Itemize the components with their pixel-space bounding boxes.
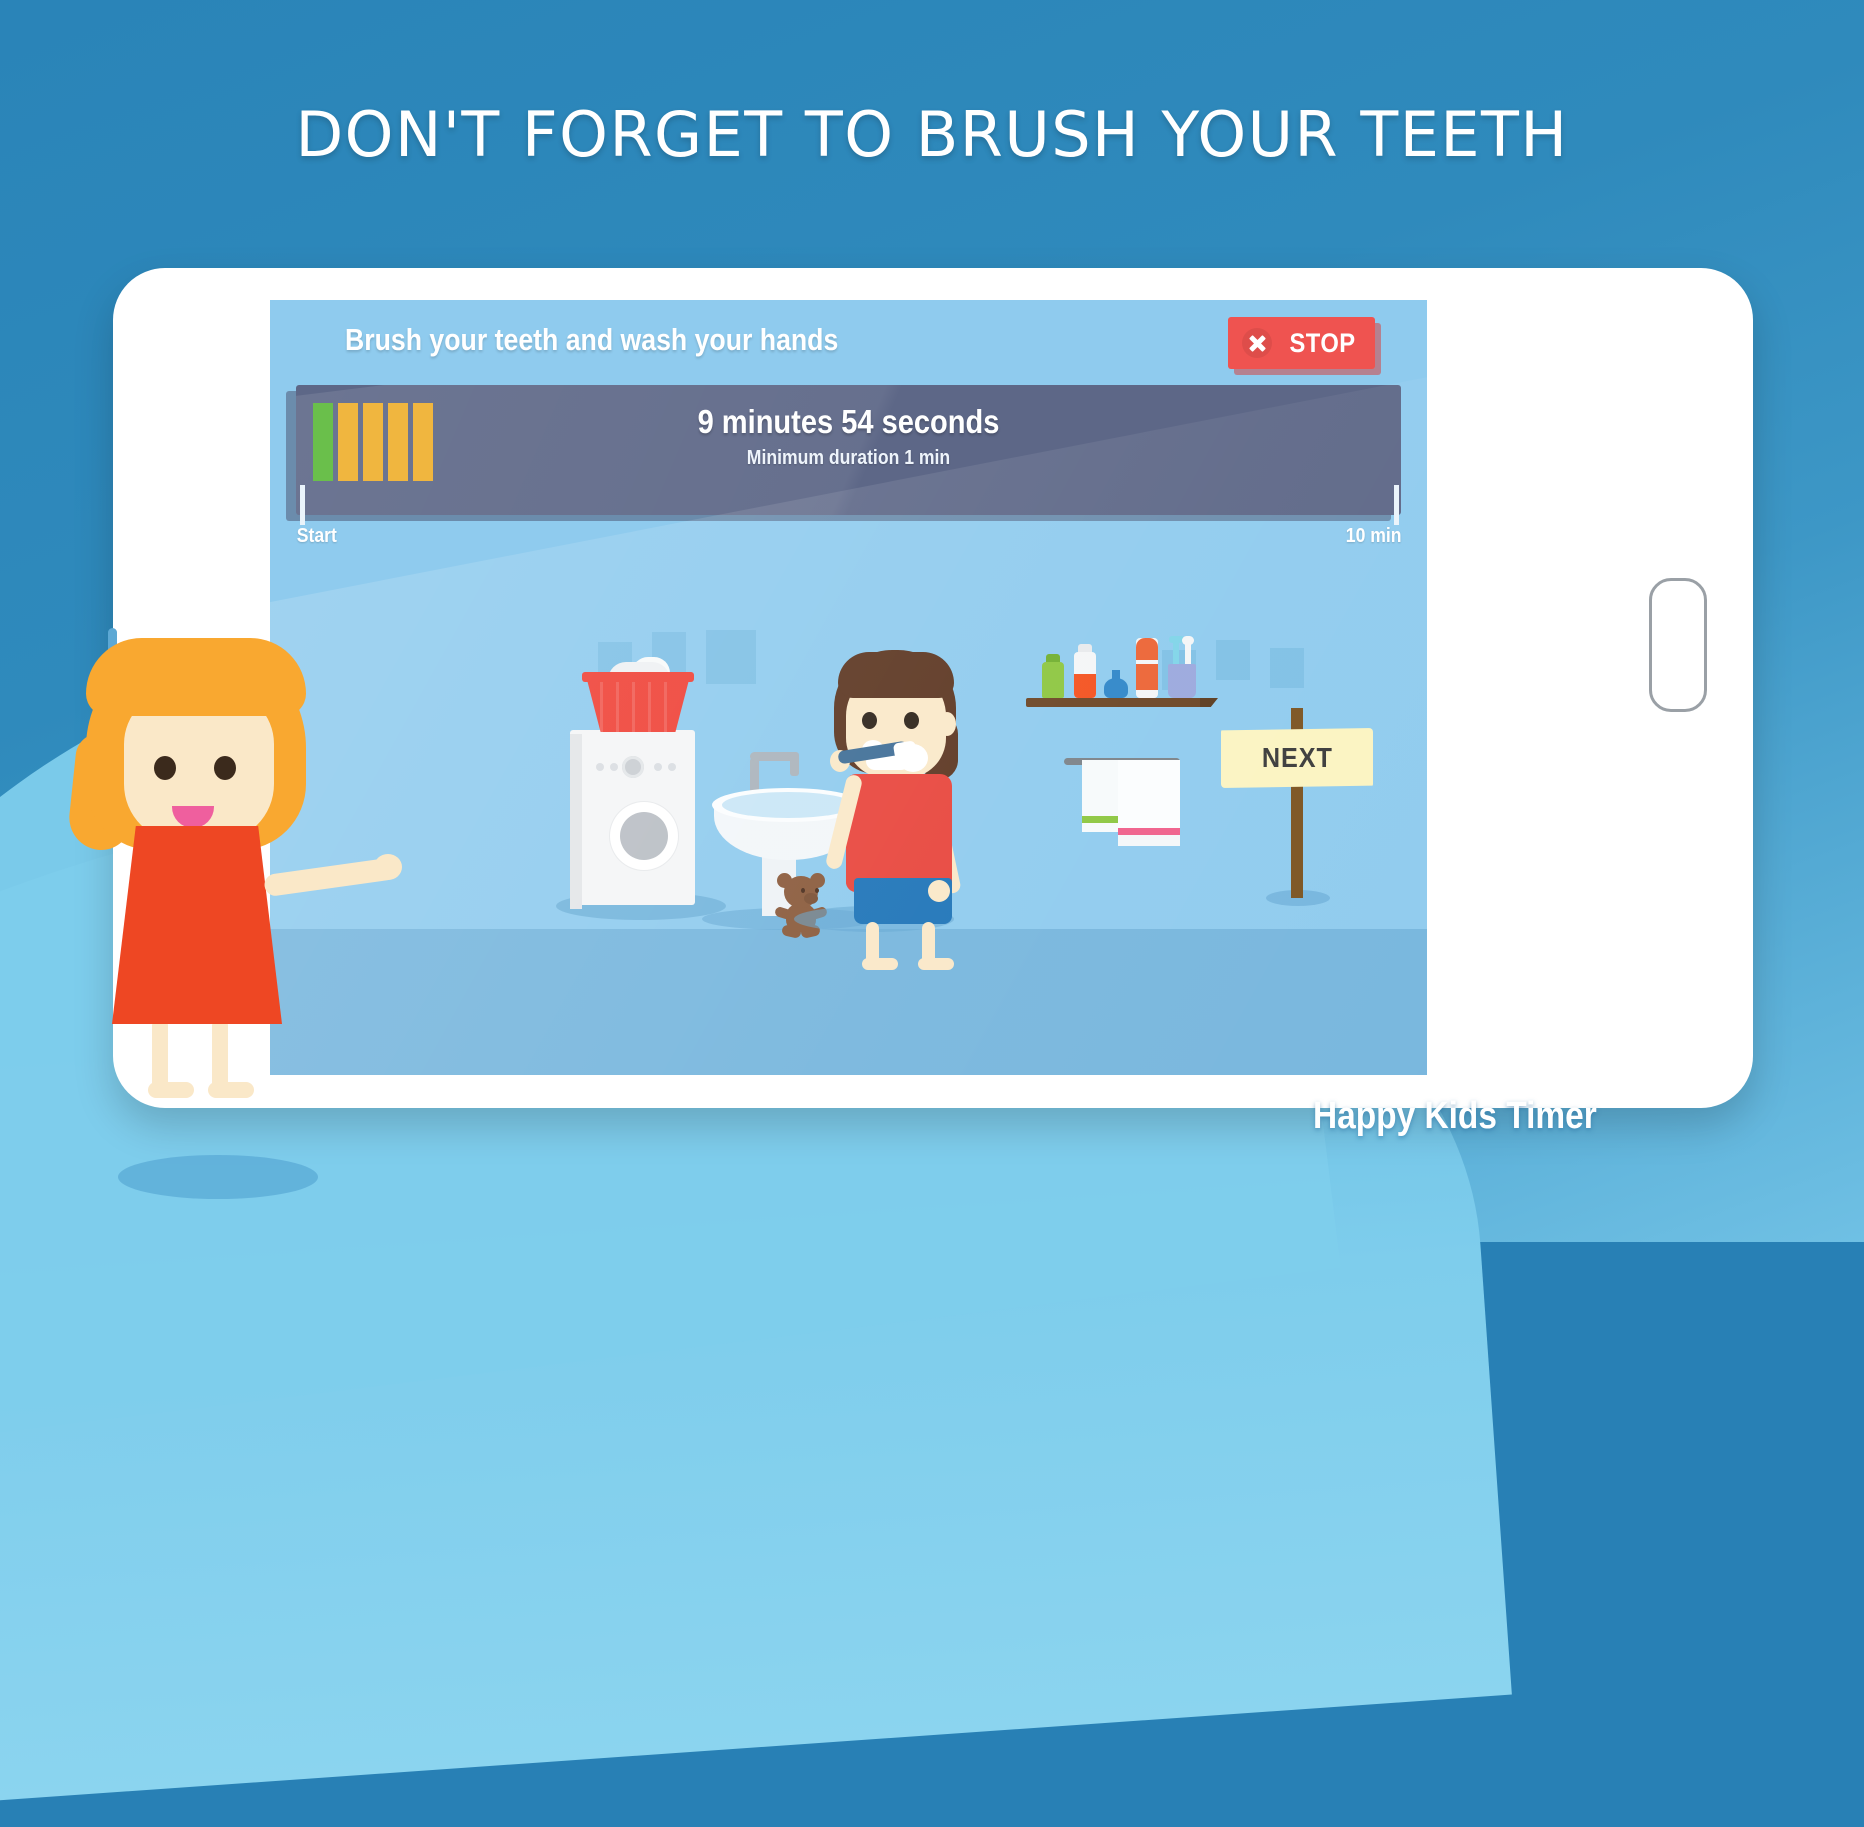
boy-foot [862, 958, 898, 970]
girl-mascot [68, 638, 398, 1038]
next-sign-label: NEXT [1262, 742, 1333, 774]
toothbrush-bristles [1182, 636, 1194, 645]
basket-rib [600, 676, 603, 732]
stop-button-label: STOP [1290, 328, 1356, 359]
white-bottle-label [1074, 674, 1096, 698]
boy-character [810, 650, 990, 940]
girl-foot [148, 1082, 194, 1098]
washing-machine-side [570, 734, 582, 909]
girl-eye [214, 756, 236, 780]
boy-eye [862, 712, 877, 729]
boy-fringe [838, 652, 954, 698]
toothpaste-tube-cap [1136, 638, 1158, 660]
app-header: Brush your teeth and wash your hands STO… [270, 300, 1427, 385]
girl-hand [374, 854, 402, 880]
boy-eye [904, 712, 919, 729]
basket-rib [632, 676, 635, 732]
basket-rib [616, 676, 619, 732]
basket-rib [648, 676, 651, 732]
washing-machine-indicator [668, 763, 676, 771]
progress-tick-end [1394, 485, 1399, 525]
faucet-spout [790, 752, 799, 776]
blue-perfume-bottle [1104, 678, 1128, 698]
wall-tile [706, 630, 756, 684]
next-sign[interactable]: NEXT [1221, 728, 1373, 788]
boy-foot [918, 958, 954, 970]
girl-fringe [86, 638, 306, 716]
stop-button[interactable]: STOP [1228, 317, 1375, 369]
basket-rib [664, 676, 667, 732]
wall-tile [1270, 648, 1304, 688]
page-title: DON'T FORGET TO BRUSH YOUR TEETH [0, 98, 1864, 171]
progress-segment [313, 403, 333, 481]
close-x-icon [1242, 328, 1272, 358]
bathroom-shelf [1026, 698, 1206, 707]
app-screen: Brush your teeth and wash your hands STO… [270, 300, 1427, 1075]
toothbrush-cup [1168, 664, 1196, 698]
green-bottle [1042, 662, 1064, 698]
washing-machine-indicator [610, 763, 618, 771]
washing-machine-indicator [654, 763, 662, 771]
brand-name: Happy Kids Timer [1313, 1095, 1597, 1138]
progress-bar-track[interactable]: 9 minutes 54 seconds Minimum duration 1 … [296, 385, 1401, 515]
time-remaining-label: 9 minutes 54 seconds [362, 403, 1334, 441]
task-title: Brush your teeth and wash your hands [345, 322, 838, 358]
laundry-basket-rim [582, 672, 694, 682]
washing-machine [570, 730, 695, 905]
toothpaste-tube-body [1136, 664, 1158, 690]
progress-tick-start [300, 485, 305, 525]
timer-progress: 9 minutes 54 seconds Minimum duration 1 … [286, 385, 1411, 530]
wall-tile [1216, 640, 1250, 680]
girl-foot [208, 1082, 254, 1098]
floor [270, 929, 1427, 1075]
bathroom-shelf-edge [1200, 698, 1218, 707]
washing-machine-indicator [596, 763, 604, 771]
washing-machine-door [610, 802, 678, 870]
girl-shadow [118, 1155, 318, 1199]
teddy-eye [801, 888, 805, 893]
towel-stripe [1118, 828, 1180, 835]
girl-dress [112, 826, 282, 1024]
phone-home-button[interactable] [1649, 578, 1707, 712]
towel-hem [1118, 835, 1180, 846]
progress-segment [338, 403, 358, 481]
boy-hand [928, 880, 950, 902]
girl-eye [154, 756, 176, 780]
washing-machine-door-glass [620, 812, 668, 860]
washing-machine-knob [622, 756, 644, 778]
bathroom-illustration: NEXT [270, 530, 1427, 1075]
laundry-basket [586, 676, 690, 732]
minimum-duration-label: Minimum duration 1 min [362, 447, 1334, 470]
